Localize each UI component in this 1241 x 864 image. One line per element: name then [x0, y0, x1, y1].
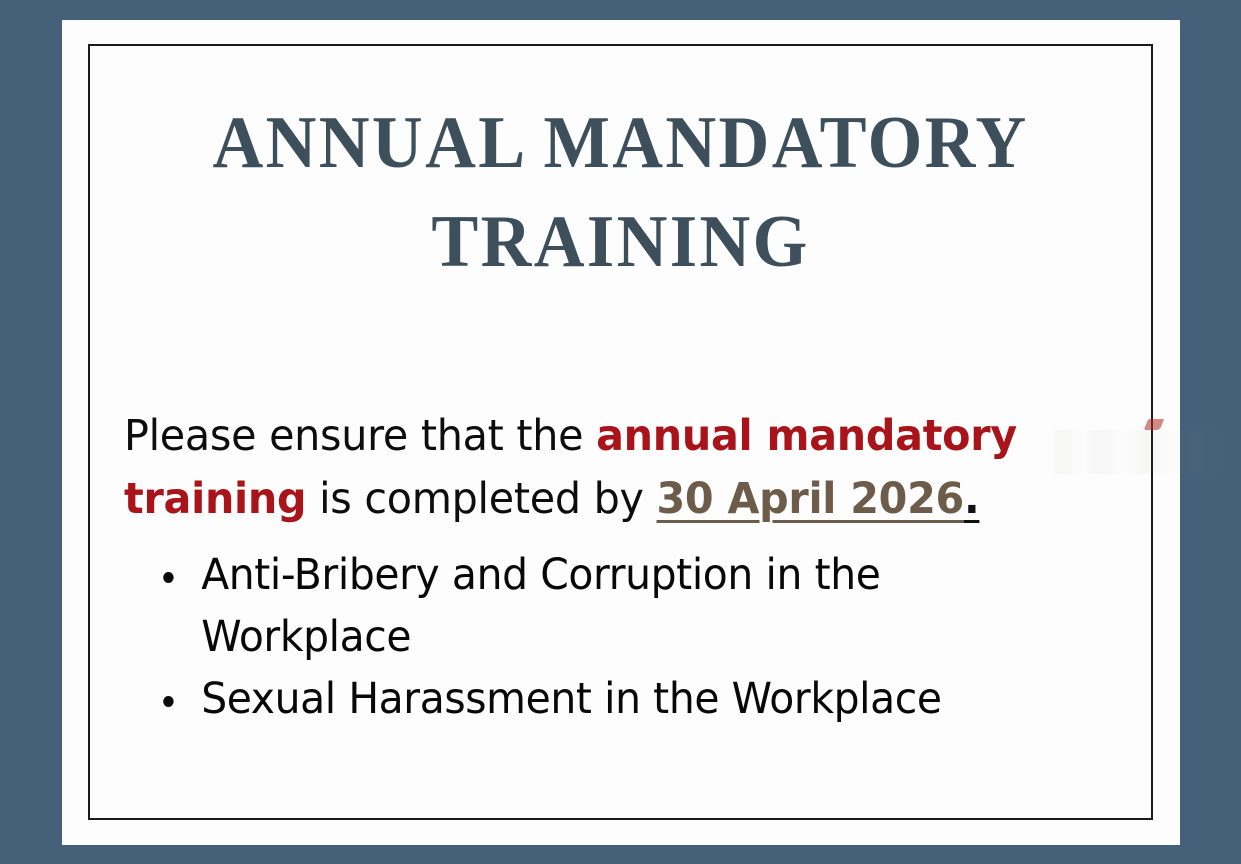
intro-text-middle: is completed by — [306, 474, 656, 524]
slide-root: ANNUAL MANDATORY TRAINING Please ensure … — [0, 0, 1241, 864]
course-list: Anti-Bribery and Corruption in the Workp… — [148, 544, 1128, 730]
slide-content: ANNUAL MANDATORY TRAINING Please ensure … — [88, 44, 1153, 820]
intro-paragraph: Please ensure that the annual mandatory … — [124, 405, 1084, 531]
page-title-line-2: TRAINING — [115, 193, 1127, 292]
list-item: Anti-Bribery and Corruption in the Workp… — [148, 544, 1079, 668]
intro-text-lead: Please ensure that the — [124, 411, 596, 461]
deadline-date: 30 April 2026 — [657, 474, 965, 524]
list-item: Sexual Harassment in the Workplace — [148, 668, 1079, 730]
intro-text-period: . — [964, 474, 979, 524]
page-title-line-1: ANNUAL MANDATORY — [115, 94, 1127, 193]
page-title: ANNUAL MANDATORY TRAINING — [88, 94, 1153, 292]
